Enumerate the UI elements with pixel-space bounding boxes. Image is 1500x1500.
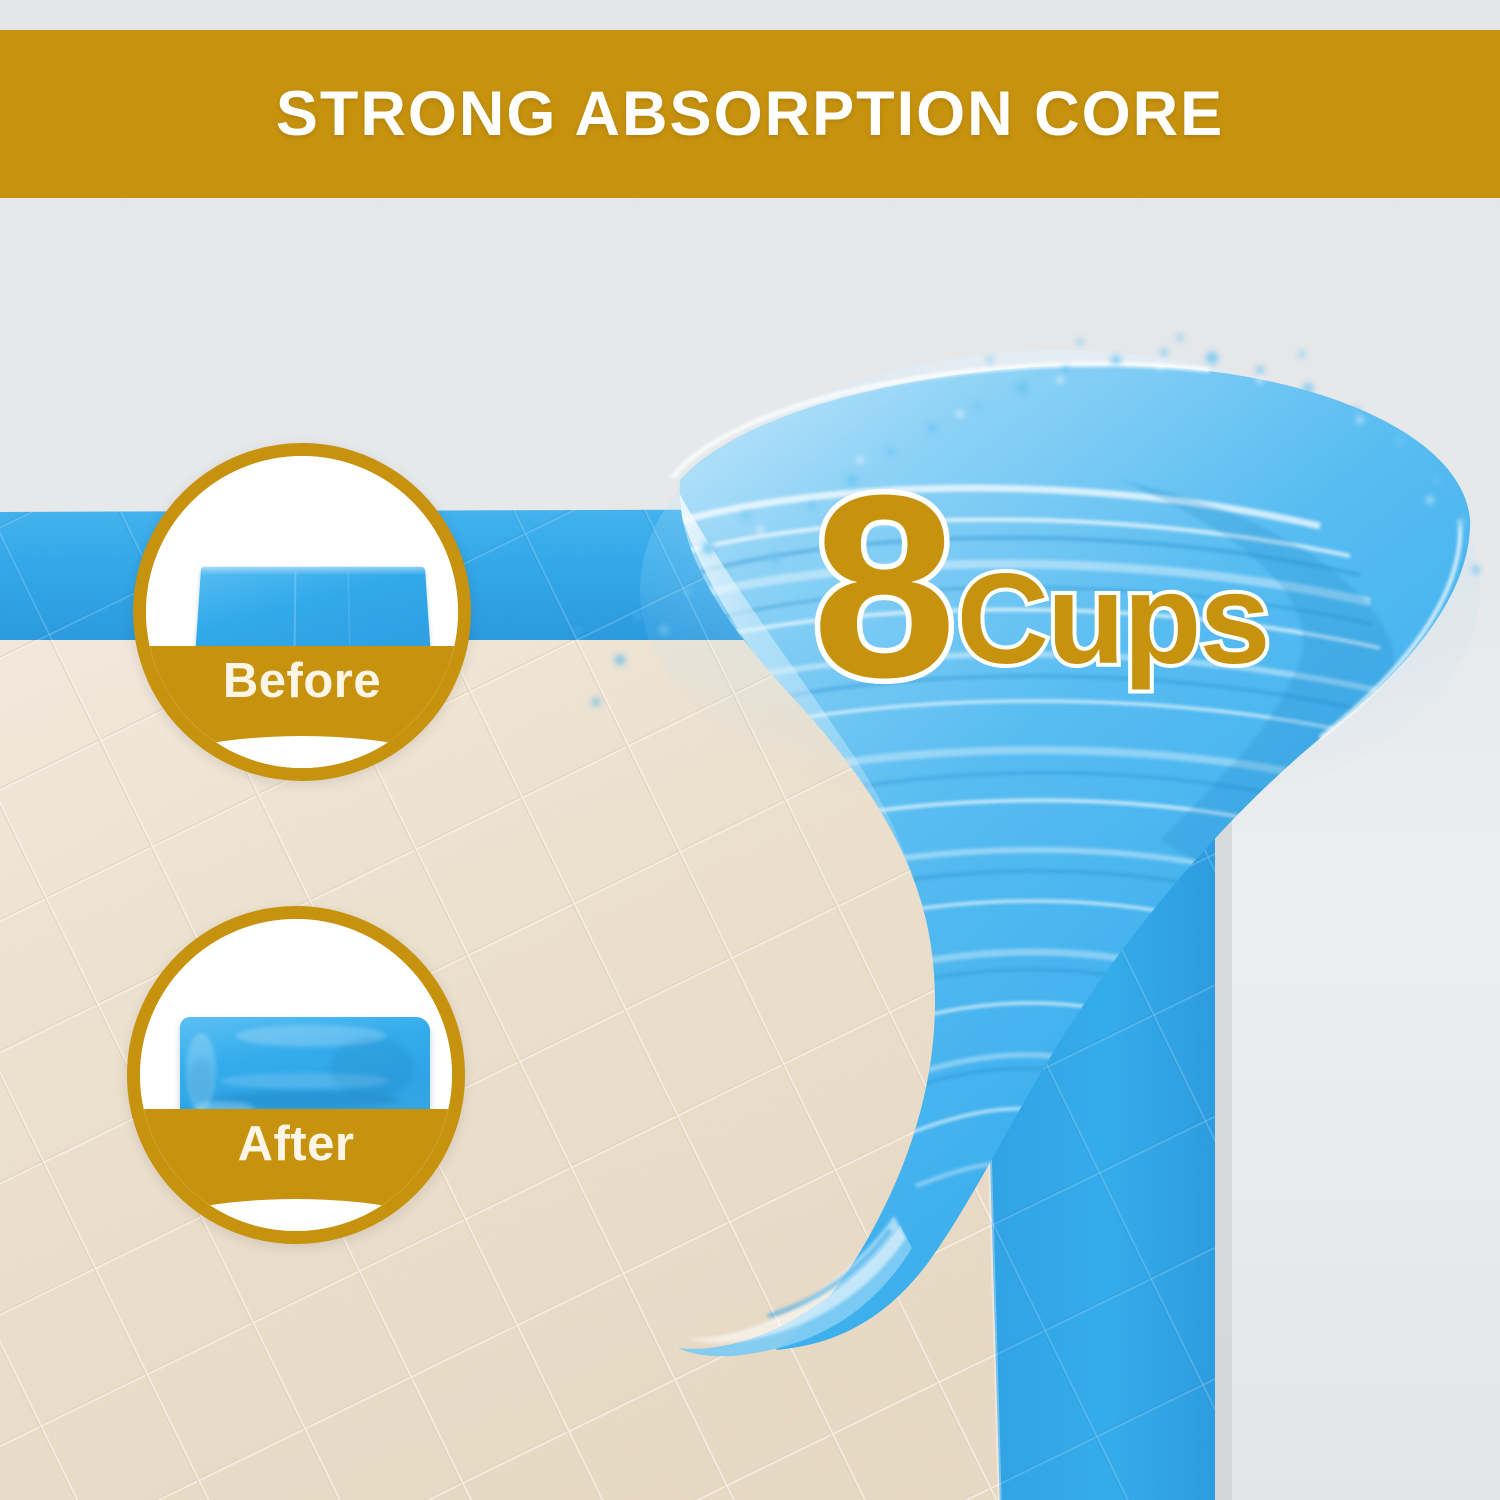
banner-title: STRONG ABSORPTION CORE bbox=[276, 78, 1224, 150]
badge-before[interactable]: Before bbox=[133, 443, 471, 781]
badge-before-label: Before bbox=[223, 656, 381, 707]
header-banner: STRONG ABSORPTION CORE bbox=[0, 30, 1500, 198]
product-feature-image: 8 Cups Before A bbox=[0, 0, 1500, 1500]
badge-after-label: After bbox=[238, 1119, 355, 1170]
pad-edge-right bbox=[975, 556, 1215, 1500]
badge-after[interactable]: After bbox=[127, 906, 465, 1244]
